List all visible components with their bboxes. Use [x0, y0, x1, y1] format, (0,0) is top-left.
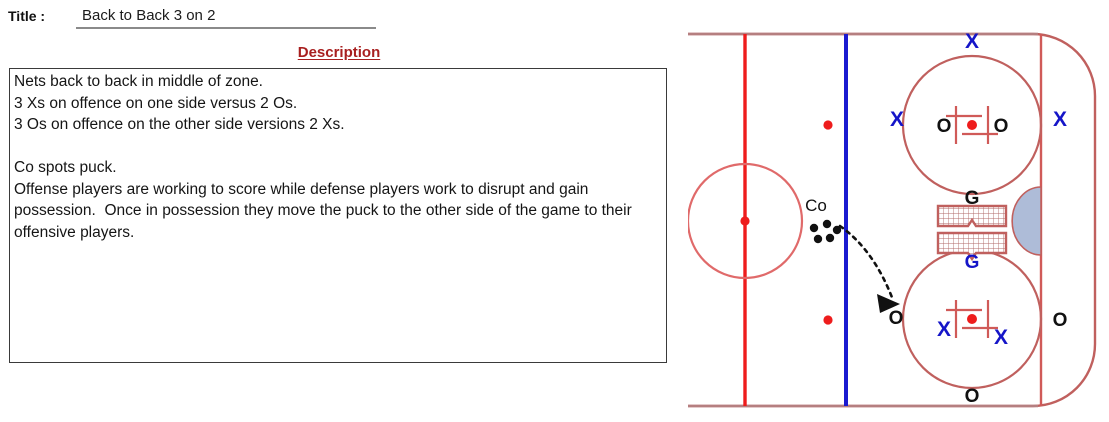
marker-o-top-right: O [994, 116, 1009, 137]
faceoff-circle-top [903, 56, 1041, 194]
description-box[interactable]: Nets back to back in middle of zone. 3 X… [9, 68, 667, 363]
pass-arrow [840, 226, 900, 313]
marker-x-corner-top: X [1053, 108, 1067, 131]
title-label: Title : [8, 8, 45, 24]
marker-goalie-top: G [965, 188, 980, 209]
title-row: Title : Back to Back 3 on 2 [8, 6, 668, 32]
center-line-group [688, 34, 802, 406]
marker-o-top-left: O [937, 116, 952, 137]
marker-x-neutral-top: X [890, 108, 904, 131]
marker-o-bottom-circle: O [965, 386, 980, 407]
marker-x-bottom-left: X [937, 318, 951, 341]
description-heading: Description [0, 44, 678, 62]
neutral-dot-top [823, 120, 832, 129]
marker-coach: Co [805, 196, 827, 215]
title-value[interactable]: Back to Back 3 on 2 [76, 6, 376, 27]
rink-diagram: Co X O O X X G G X X O O O [688, 28, 1106, 412]
marker-x-top-circle: X [965, 30, 979, 53]
goal-crease [1012, 187, 1041, 255]
title-underline [76, 27, 376, 29]
drill-form-panel: Title : Back to Back 3 on 2 Description … [0, 0, 690, 422]
description-text[interactable]: Nets back to back in middle of zone. 3 X… [14, 71, 662, 243]
puck-pile [810, 220, 841, 243]
net-top [938, 206, 1006, 226]
neutral-dot-bottom [823, 315, 832, 324]
title-field[interactable]: Back to Back 3 on 2 [76, 6, 376, 29]
marker-x-bottom-right: X [994, 326, 1008, 349]
marker-o-arrow-target: O [889, 308, 904, 329]
marker-o-corner-bottom: O [1053, 310, 1068, 331]
center-dot [740, 216, 749, 225]
marker-goalie-bottom: G [965, 252, 980, 273]
description-heading-label: Description [298, 44, 381, 61]
